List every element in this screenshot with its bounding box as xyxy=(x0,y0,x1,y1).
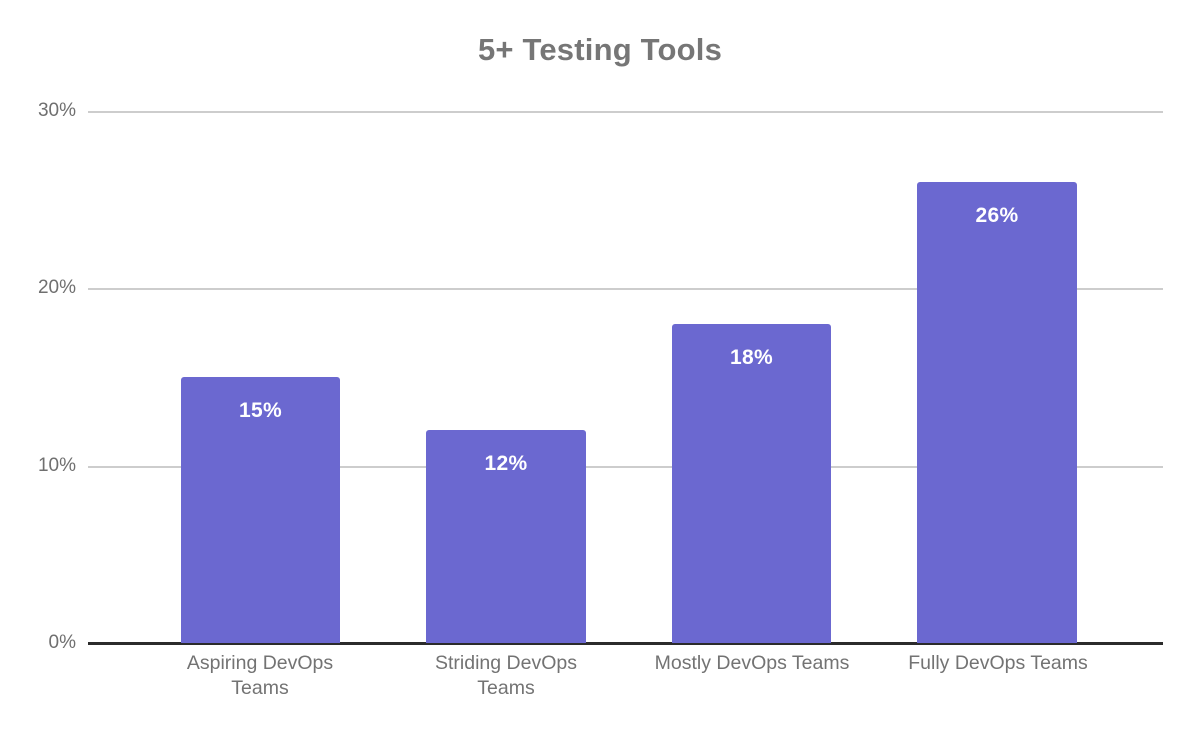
bar-value-label: 12% xyxy=(426,452,586,476)
bar-mostly-devops-teams[interactable]: 18% xyxy=(672,324,831,643)
y-axis-tick-label-0: 0% xyxy=(8,632,76,654)
y-axis-tick-label-20: 20% xyxy=(8,277,76,299)
x-axis-category-label-aspiring: Aspiring DevOps Teams xyxy=(160,651,360,701)
bar-value-label: 15% xyxy=(181,399,340,423)
bar-aspiring-devops-teams[interactable]: 15% xyxy=(181,377,340,643)
bar-chart: 5+ Testing Tools 30% 20% 10% 0% 15% 12% … xyxy=(0,0,1200,742)
bar-fully-devops-teams[interactable]: 26% xyxy=(917,182,1077,643)
bar-value-label: 18% xyxy=(672,346,831,370)
bar-striding-devops-teams[interactable]: 12% xyxy=(426,430,586,643)
bar-value-label: 26% xyxy=(917,204,1077,228)
x-axis-category-label-striding: Striding DevOps Teams xyxy=(406,651,606,701)
y-axis-tick-label-10: 10% xyxy=(8,455,76,477)
x-axis-category-label-fully: Fully DevOps Teams xyxy=(888,651,1108,676)
y-axis-tick-label-30: 30% xyxy=(8,100,76,122)
gridline-30 xyxy=(88,111,1163,113)
plot-area: 15% 12% 18% 26% xyxy=(88,111,1163,643)
x-axis-category-label-mostly: Mostly DevOps Teams xyxy=(652,651,852,676)
chart-title: 5+ Testing Tools xyxy=(0,32,1200,68)
